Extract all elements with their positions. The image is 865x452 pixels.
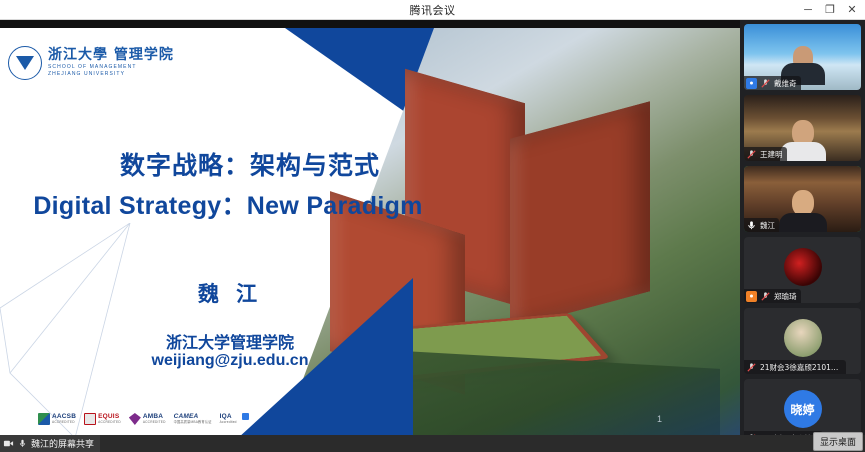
- window-title: 腾讯会议: [410, 2, 456, 18]
- shared-screen-area[interactable]: 浙江大學 管理学院 SCHOOL OF MANAGEMENT ZHEJIANG …: [0, 20, 740, 452]
- zju-crest-icon: [8, 46, 42, 80]
- accreditation-sub: ACCREDITED: [52, 421, 76, 424]
- participant-tile[interactable]: 21财会3徐嘉颀21011086…: [744, 308, 861, 374]
- presentation-slide: 浙江大學 管理学院 SCHOOL OF MANAGEMENT ZHEJIANG …: [0, 28, 740, 438]
- video-on-icon: ●: [746, 78, 757, 89]
- campus-building-b: [510, 101, 650, 329]
- accreditation-sub: Accredited: [220, 421, 237, 424]
- title-bar: 腾讯会议 ─ ❐ ✕: [0, 0, 865, 20]
- mic-muted-icon: [746, 149, 757, 160]
- accreditation-sub: ACCREDITED: [98, 421, 121, 424]
- camera-icon: [3, 438, 14, 449]
- participant-name: 郑瑜琦: [774, 291, 797, 302]
- logo-english-line2: ZHEJIANG UNIVERSITY: [48, 72, 174, 77]
- slide-affiliation: 浙江大学管理学院: [40, 329, 420, 353]
- participant-avatar: [784, 248, 822, 286]
- restore-button[interactable]: ❐: [819, 0, 841, 20]
- slide-email: weijiang@zju.edu.cn: [40, 352, 420, 370]
- accreditation-camea: CAMEA 中国高质量MBA教育认证: [174, 414, 212, 424]
- slide-title-chinese: 数字战略：架构与范式: [40, 146, 460, 182]
- slide-speaker-name: 魏 江: [40, 278, 420, 308]
- accreditation-equis: EQUIS ACCREDITED: [84, 413, 121, 425]
- participant-tile-active-speaker[interactable]: 魏江: [744, 166, 861, 232]
- accreditation-aacsb: AACSB ACCREDITED: [38, 413, 76, 425]
- logo-chinese-name: 浙江大學 管理学院: [48, 48, 174, 63]
- taskbar: 魏江的屏幕共享 显示桌面: [0, 435, 865, 452]
- video-off-icon: ●: [746, 291, 757, 302]
- participant-tile[interactable]: ● 戴维奇: [744, 24, 861, 90]
- logo-text: 浙江大學 管理学院 SCHOOL OF MANAGEMENT ZHEJIANG …: [48, 48, 174, 77]
- participant-name: 21财会3徐嘉颀21011086…: [760, 362, 842, 373]
- logo-english-line1: SCHOOL OF MANAGEMENT: [48, 65, 174, 70]
- participant-name-bar: 魏江: [744, 218, 779, 232]
- tencent-meeting-window: 腾讯会议 ─ ❐ ✕: [0, 0, 865, 452]
- mic-on-icon: [746, 220, 757, 231]
- amba-icon: [129, 413, 141, 425]
- participant-avatar: 晓婷: [784, 390, 822, 428]
- aacsb-icon: [38, 413, 50, 425]
- accreditation-sub: ACCREDITED: [143, 421, 166, 424]
- minimize-button[interactable]: ─: [797, 0, 819, 20]
- participant-name-bar: ● 戴维奇: [744, 76, 801, 90]
- participant-name: 戴维奇: [774, 78, 797, 89]
- participant-name-bar: ● 郑瑜琦: [744, 289, 801, 303]
- mic-muted-icon: [746, 362, 757, 373]
- microphone-icon: [18, 438, 27, 449]
- mic-muted-icon: [760, 291, 771, 302]
- slide-title-english: Digital Strategy：New Paradigm: [18, 186, 438, 222]
- mic-muted-icon: [760, 78, 771, 89]
- iqa-badge-icon: [242, 413, 249, 420]
- participant-name-bar: 21财会3徐嘉颀21011086…: [744, 360, 846, 374]
- participant-filmstrip[interactable]: ● 戴维奇 王建明: [740, 20, 865, 452]
- zju-som-logo: 浙江大學 管理学院 SCHOOL OF MANAGEMENT ZHEJIANG …: [8, 46, 174, 80]
- accreditation-iqa: IQA Accredited: [220, 414, 237, 424]
- meeting-stage: 浙江大學 管理学院 SCHOOL OF MANAGEMENT ZHEJIANG …: [0, 20, 865, 452]
- participant-name: 魏江: [760, 220, 775, 231]
- slide-page-number: 1: [657, 414, 662, 424]
- accreditation-sub: 中国高质量MBA教育认证: [174, 421, 212, 424]
- close-button[interactable]: ✕: [841, 0, 863, 20]
- screen-share-label: 魏江的屏幕共享: [31, 437, 94, 450]
- window-controls: ─ ❐ ✕: [797, 0, 863, 20]
- participant-name-bar: 王建明: [744, 147, 787, 161]
- show-desktop-button[interactable]: 显示桌面: [813, 432, 863, 451]
- participant-name: 王建明: [760, 149, 783, 160]
- accreditation-logos: AACSB ACCREDITED EQUIS ACCREDITED: [38, 413, 249, 425]
- participant-avatar: [784, 319, 822, 357]
- participant-tile[interactable]: ● 郑瑜琦: [744, 237, 861, 303]
- accreditation-amba: AMBA ACCREDITED: [129, 413, 166, 425]
- participant-tile[interactable]: 王建明: [744, 95, 861, 161]
- screen-share-indicator[interactable]: 魏江的屏幕共享: [0, 435, 100, 452]
- equis-icon: [84, 413, 96, 425]
